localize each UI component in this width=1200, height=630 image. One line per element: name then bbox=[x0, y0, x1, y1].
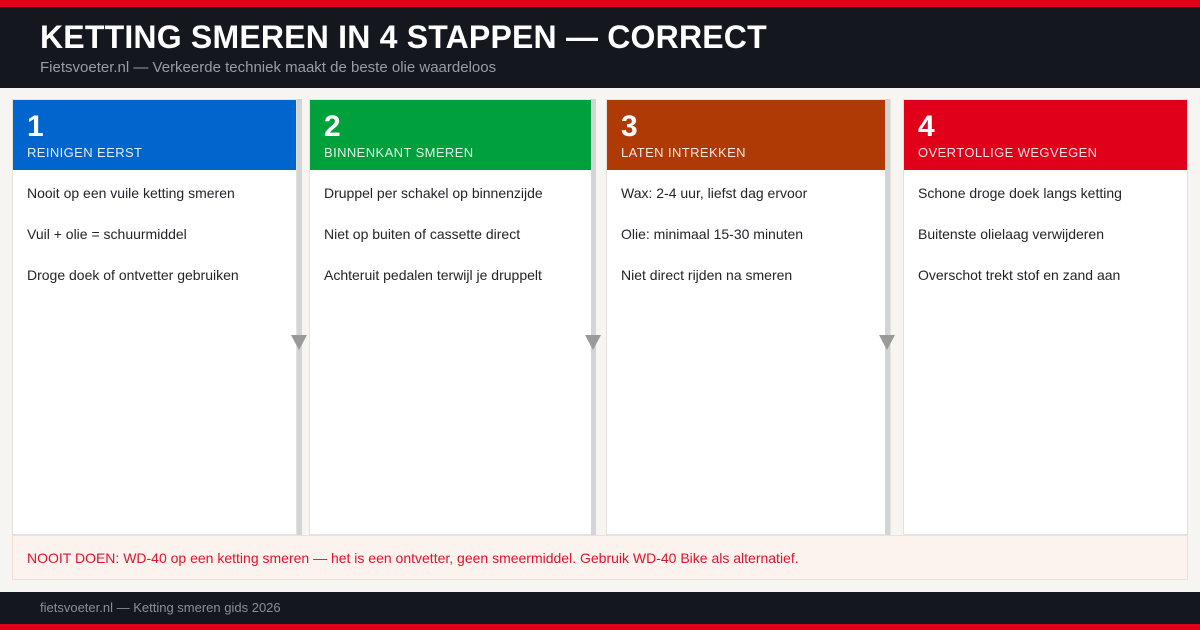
step-point: Achteruit pedalen terwijl je druppelt bbox=[324, 266, 579, 285]
step-point: Buitenste olielaag verwijderen bbox=[918, 225, 1173, 244]
step-point: Overschot trekt stof en zand aan bbox=[918, 266, 1173, 285]
step-card-4: 4 OVERTOLLIGE WEGVEGEN Schone droge doek… bbox=[903, 99, 1188, 535]
header-bar: KETTING SMEREN IN 4 STAPPEN — CORRECT Fi… bbox=[0, 7, 1200, 88]
step-body-4: Schone droge doek langs ketting Buitenst… bbox=[904, 170, 1187, 534]
step-card-1: 1 REINIGEN EERST Nooit op een vuile kett… bbox=[12, 99, 297, 535]
step-header-2: 2 BINNENKANT SMEREN bbox=[310, 100, 593, 170]
step-point: Olie: minimaal 15-30 minuten bbox=[621, 225, 876, 244]
step-point: Wax: 2-4 uur, liefst dag ervoor bbox=[621, 184, 876, 203]
step-connector-2-to-3 bbox=[591, 99, 596, 535]
step-label-3: LATEN INTREKKEN bbox=[621, 144, 876, 162]
step-point: Droge doek of ontvetter gebruiken bbox=[27, 266, 282, 285]
step-number-2: 2 bbox=[324, 110, 579, 144]
warning-banner: NOOIT DOEN: WD-40 op een ketting smeren … bbox=[12, 535, 1188, 580]
step-header-4: 4 OVERTOLLIGE WEGVEGEN bbox=[904, 100, 1187, 170]
step-header-3: 3 LATEN INTREKKEN bbox=[607, 100, 890, 170]
footer-bar: fietsvoeter.nl — Ketting smeren gids 202… bbox=[0, 592, 1200, 624]
step-number-4: 4 bbox=[918, 110, 1173, 144]
step-card-3: 3 LATEN INTREKKEN Wax: 2-4 uur, liefst d… bbox=[606, 99, 891, 535]
warning-text: NOOIT DOEN: WD-40 op een ketting smeren … bbox=[27, 548, 799, 568]
step-label-2: BINNENKANT SMEREN bbox=[324, 144, 579, 162]
step-connector-1-to-2 bbox=[297, 99, 302, 535]
bottom-accent-strip bbox=[0, 624, 1200, 630]
step-number-3: 3 bbox=[621, 110, 876, 144]
step-card-2: 2 BINNENKANT SMEREN Druppel per schakel … bbox=[309, 99, 594, 535]
infographic-root: KETTING SMEREN IN 4 STAPPEN — CORRECT Fi… bbox=[0, 0, 1200, 630]
top-accent-strip bbox=[0, 0, 1200, 7]
arrow-down-icon bbox=[291, 335, 307, 350]
step-point: Niet direct rijden na smeren bbox=[621, 266, 876, 285]
arrow-down-icon bbox=[879, 335, 895, 350]
step-body-1: Nooit op een vuile ketting smeren Vuil +… bbox=[13, 170, 296, 534]
steps-row: 1 REINIGEN EERST Nooit op een vuile kett… bbox=[12, 99, 1188, 535]
step-point: Druppel per schakel op binnenzijde bbox=[324, 184, 579, 203]
page-title: KETTING SMEREN IN 4 STAPPEN — CORRECT bbox=[40, 17, 1160, 57]
step-label-4: OVERTOLLIGE WEGVEGEN bbox=[918, 144, 1173, 162]
step-point: Nooit op een vuile ketting smeren bbox=[27, 184, 282, 203]
footer-text: fietsvoeter.nl — Ketting smeren gids 202… bbox=[40, 599, 281, 617]
page-subtitle: Fietsvoeter.nl — Verkeerde techniek maak… bbox=[40, 57, 1160, 79]
step-connector-3-to-4 bbox=[885, 99, 890, 535]
step-header-1: 1 REINIGEN EERST bbox=[13, 100, 296, 170]
step-point: Niet op buiten of cassette direct bbox=[324, 225, 579, 244]
step-point: Schone droge doek langs ketting bbox=[918, 184, 1173, 203]
step-body-3: Wax: 2-4 uur, liefst dag ervoor Olie: mi… bbox=[607, 170, 890, 534]
step-number-1: 1 bbox=[27, 110, 282, 144]
step-body-2: Druppel per schakel op binnenzijde Niet … bbox=[310, 170, 593, 534]
step-label-1: REINIGEN EERST bbox=[27, 144, 282, 162]
step-point: Vuil + olie = schuurmiddel bbox=[27, 225, 282, 244]
arrow-down-icon bbox=[585, 335, 601, 350]
